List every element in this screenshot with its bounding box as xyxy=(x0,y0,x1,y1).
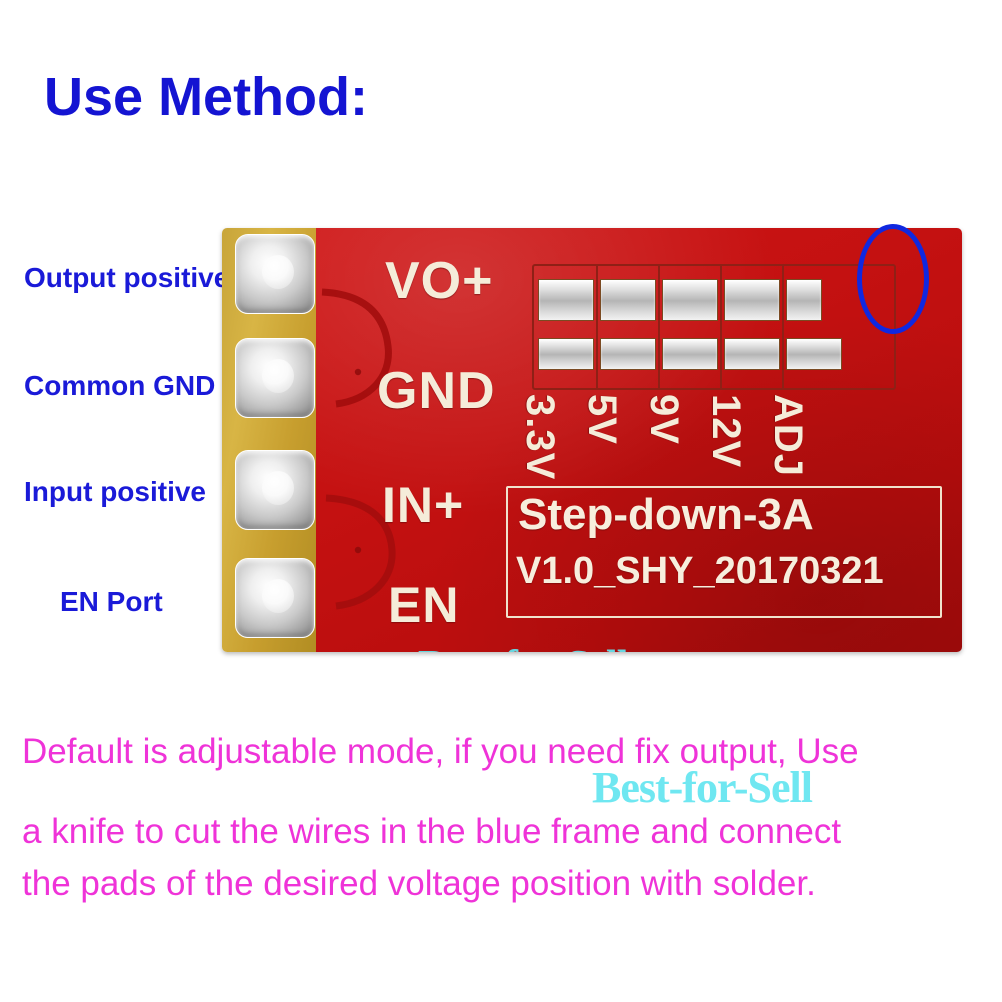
silk-voltage-label-adj: ADJ xyxy=(765,394,810,477)
voltage-pad-3-3v[interactable] xyxy=(534,266,598,388)
voltage-pad-12v[interactable] xyxy=(720,266,784,388)
voltage-select-pad-bank xyxy=(532,264,896,390)
pad-en[interactable] xyxy=(235,558,315,638)
note-line-3: the pads of the desired voltage position… xyxy=(22,864,816,904)
board-model-box: Step-down-3A V1.0_SHY_20170321 xyxy=(506,486,942,618)
silk-label-gnd: GND xyxy=(377,361,496,421)
board-model-name: Step-down-3A xyxy=(518,490,814,540)
silk-label-en: EN xyxy=(388,576,459,634)
smd-pad-top[interactable] xyxy=(662,279,718,321)
callout-output-positive: Output positive xyxy=(24,262,229,294)
smd-pad-bottom[interactable] xyxy=(662,338,718,370)
smd-pad-bottom[interactable] xyxy=(724,338,780,370)
pad-vo-plus[interactable] xyxy=(235,234,315,314)
smd-pad-top[interactable] xyxy=(724,279,780,321)
voltage-pad-9v[interactable] xyxy=(658,266,722,388)
smd-pad-top[interactable] xyxy=(786,279,822,321)
callout-common-gnd: Common GND xyxy=(24,370,215,402)
smd-pad-bottom[interactable] xyxy=(600,338,656,370)
callout-en-port: EN Port xyxy=(60,586,163,618)
silk-label-vo-plus: VO+ xyxy=(385,251,494,311)
page-title: Use Method: xyxy=(44,66,368,128)
silk-voltage-label-12v: 12V xyxy=(703,394,748,468)
smd-pad-bottom[interactable] xyxy=(786,338,842,370)
silk-voltage-label-9v: 9V xyxy=(641,394,686,445)
watermark-board: Best-for-Sell xyxy=(418,642,627,652)
silk-voltage-label-3-3v: 3.3V xyxy=(517,394,562,480)
smd-pad-top[interactable] xyxy=(600,279,656,321)
page-canvas: Use Method: Output positive Common GND I… xyxy=(0,0,1002,1002)
note-line-2: a knife to cut the wires in the blue fra… xyxy=(22,812,841,852)
note-line-1: Default is adjustable mode, if you need … xyxy=(22,732,859,772)
smd-pad-bottom[interactable] xyxy=(538,338,594,370)
pad-gnd[interactable] xyxy=(235,338,315,418)
board-version-label: V1.0_SHY_20170321 xyxy=(516,550,884,593)
silk-voltage-label-5v: 5V xyxy=(579,394,624,445)
voltage-pad-5v[interactable] xyxy=(596,266,660,388)
silk-label-in-plus: IN+ xyxy=(382,476,464,534)
pad-in-plus[interactable] xyxy=(235,450,315,530)
smd-pad-top[interactable] xyxy=(538,279,594,321)
voltage-pad-adj[interactable] xyxy=(782,266,844,388)
blue-frame-highlight-ellipse xyxy=(857,224,929,334)
callout-input-positive: Input positive xyxy=(24,476,206,508)
pcb-board-photo: VO+ GND IN+ EN xyxy=(222,228,962,652)
